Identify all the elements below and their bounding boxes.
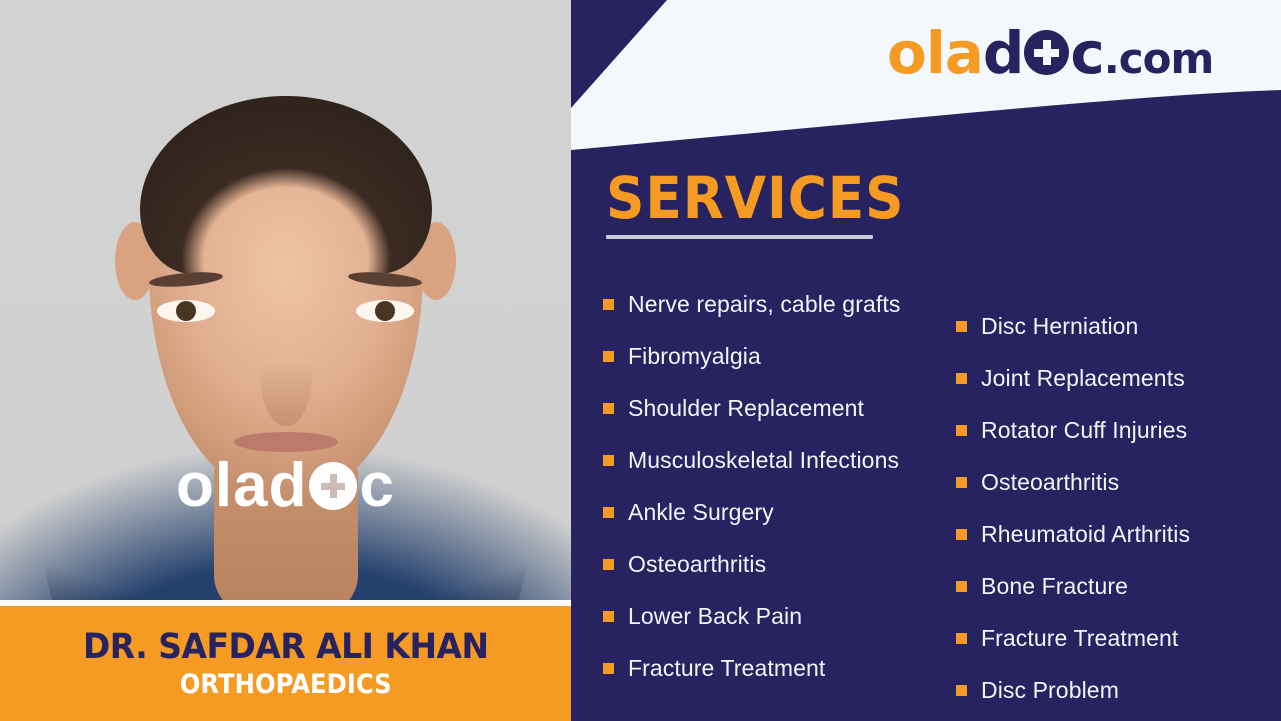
doctor-name: DR. SAFDAR ALI KHAN [83, 627, 489, 667]
service-label: Shoulder Replacement [628, 397, 864, 420]
eye-left-shape [157, 300, 215, 322]
doctor-name-bar: DR. SAFDAR ALI KHAN ORTHOPAEDICS [0, 600, 571, 721]
watermark-text-right: c [359, 455, 394, 517]
eye-right-shape [356, 300, 414, 322]
oladoc-watermark: oladc [0, 455, 571, 517]
service-label: Disc Herniation [981, 315, 1138, 338]
oladoc-logo: oladc.com [887, 24, 1213, 82]
service-label: Lower Back Pain [628, 605, 802, 628]
services-heading: SERVICES [606, 168, 905, 229]
doctor-profile-poster: oladc DR. SAFDAR ALI KHAN ORTHOPAEDICS o… [0, 0, 1281, 721]
bullet-square-icon [603, 403, 614, 414]
bullet-square-icon [956, 373, 967, 384]
services-column-right: Disc HerniationJoint ReplacementsRotator… [956, 300, 1276, 716]
watermark-text-left: olad [176, 455, 307, 517]
service-label: Osteoarthritis [628, 553, 766, 576]
service-label: Musculoskeletal Infections [628, 449, 899, 472]
service-label: Osteoarthritis [981, 471, 1119, 494]
bullet-square-icon [956, 685, 967, 696]
service-list-item: Lower Back Pain [603, 590, 973, 642]
logo-text-d: d [983, 19, 1024, 87]
service-list-item: Fracture Treatment [956, 612, 1276, 664]
bullet-square-icon [956, 581, 967, 592]
bullet-square-icon [956, 321, 967, 332]
bullet-square-icon [603, 455, 614, 466]
service-list-item: Osteoarthritis [956, 456, 1276, 508]
services-column-left: Nerve repairs, cable graftsFibromyalgiaS… [603, 278, 973, 694]
nose-shape [260, 318, 312, 426]
service-list-item: Rheumatoid Arthritis [956, 508, 1276, 560]
service-list-item: Disc Herniation [956, 300, 1276, 352]
bullet-square-icon [603, 559, 614, 570]
doctor-photo-panel: oladc DR. SAFDAR ALI KHAN ORTHOPAEDICS [0, 0, 571, 721]
service-label: Ankle Surgery [628, 501, 774, 524]
bullet-square-icon [956, 633, 967, 644]
services-heading-underline [606, 235, 873, 239]
mouth-shape [234, 432, 338, 452]
service-list-item: Rotator Cuff Injuries [956, 404, 1276, 456]
service-list-item: Shoulder Replacement [603, 382, 973, 434]
logo-text-dotcom: .com [1104, 34, 1213, 83]
bullet-square-icon [603, 351, 614, 362]
services-panel: oladc.com SERVICES Nerve repairs, cable … [571, 0, 1281, 721]
service-list-item: Nerve repairs, cable grafts [603, 278, 973, 330]
logo-text-c: c [1070, 19, 1103, 87]
service-label: Rheumatoid Arthritis [981, 523, 1190, 546]
service-label: Rotator Cuff Injuries [981, 419, 1187, 442]
service-label: Joint Replacements [981, 367, 1185, 390]
service-list-item: Fibromyalgia [603, 330, 973, 382]
bullet-square-icon [956, 529, 967, 540]
service-label: Nerve repairs, cable grafts [628, 293, 900, 316]
plus-circle-icon [1024, 30, 1069, 75]
plus-circle-icon [309, 462, 357, 510]
logo-text-ola: ola [887, 19, 983, 87]
doctor-specialty: ORTHOPAEDICS [180, 669, 392, 700]
service-list-item: Disc Problem [956, 664, 1276, 716]
service-label: Fracture Treatment [628, 657, 825, 680]
bullet-square-icon [603, 663, 614, 674]
service-list-item: Bone Fracture [956, 560, 1276, 612]
service-label: Disc Problem [981, 679, 1119, 702]
service-label: Bone Fracture [981, 575, 1128, 598]
service-list-item: Musculoskeletal Infections [603, 434, 973, 486]
service-list-item: Ankle Surgery [603, 486, 973, 538]
service-list-item: Osteoarthritis [603, 538, 973, 590]
bullet-square-icon [603, 299, 614, 310]
bullet-square-icon [603, 507, 614, 518]
service-label: Fracture Treatment [981, 627, 1178, 650]
bullet-square-icon [956, 477, 967, 488]
service-list-item: Fracture Treatment [603, 642, 973, 694]
service-list-item: Joint Replacements [956, 352, 1276, 404]
bullet-square-icon [603, 611, 614, 622]
service-label: Fibromyalgia [628, 345, 761, 368]
bullet-square-icon [956, 425, 967, 436]
